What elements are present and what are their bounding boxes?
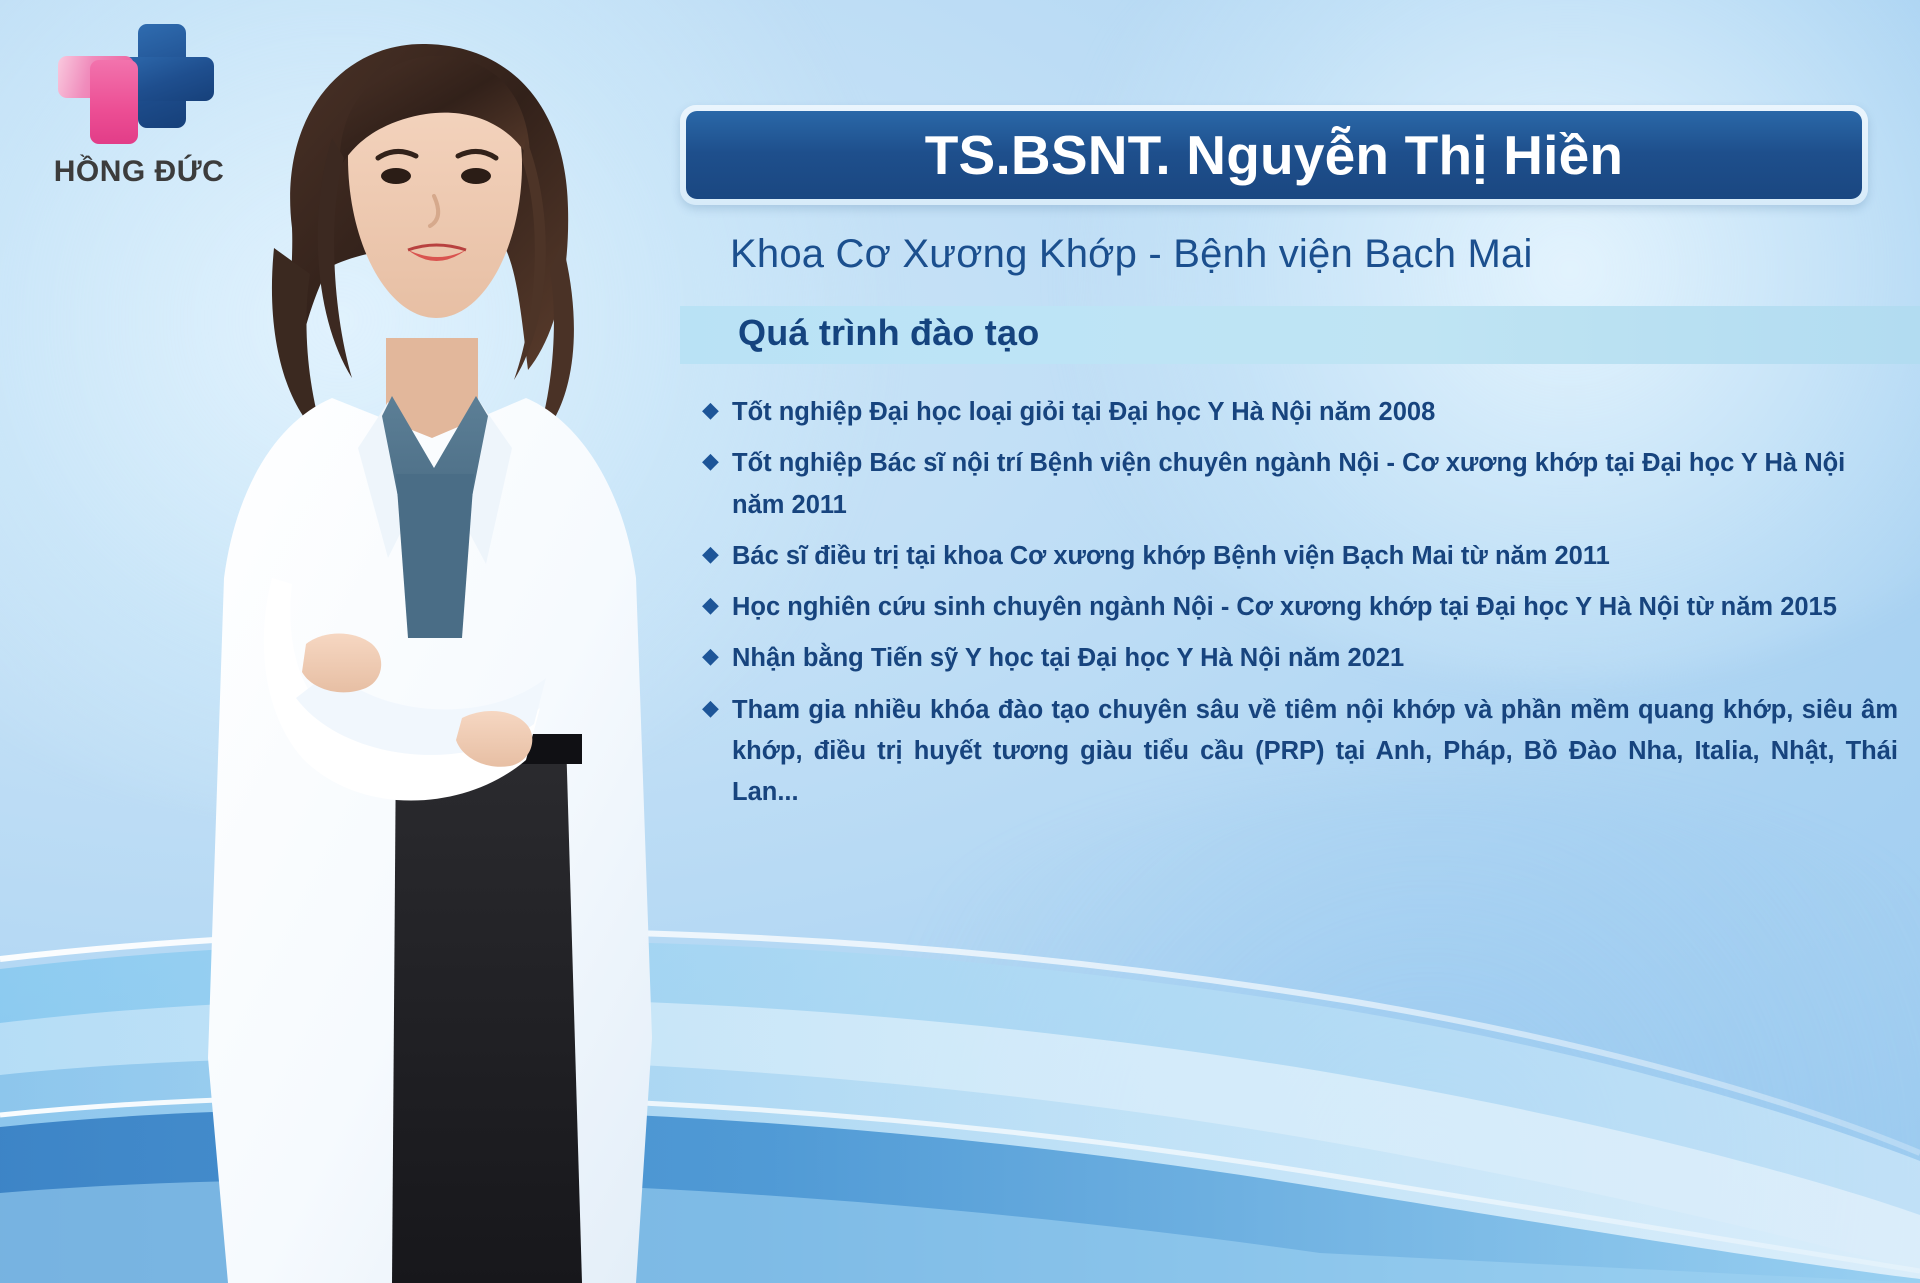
list-item: ◆ Bác sĩ điều trị tại khoa Cơ xương khớp… (698, 536, 1898, 577)
list-item-text: Nhận bằng Tiến sỹ Y học tại Đại học Y Hà… (732, 638, 1898, 679)
training-list: ◆ Tốt nghiệp Đại học loại giỏi tại Đại h… (698, 392, 1898, 865)
diamond-bullet-icon: ◆ (698, 392, 732, 428)
list-item-text: Tốt nghiệp Đại học loại giỏi tại Đại học… (732, 392, 1898, 433)
diamond-bullet-icon: ◆ (698, 443, 732, 479)
list-item: ◆ Nhận bằng Tiến sỹ Y học tại Đại học Y … (698, 638, 1898, 679)
doctor-name: TS.BSNT. Nguyễn Thị Hiền (925, 128, 1623, 183)
doctor-department: Khoa Cơ Xương Khớp - Bệnh viện Bạch Mai (730, 232, 1870, 277)
section-title: Quá trình đào tạo (738, 312, 1039, 354)
doctor-profile-poster: HỒNG ĐỨC (0, 0, 1920, 1283)
doctor-portrait (96, 18, 736, 1283)
list-item-text: Học nghiên cứu sinh chuyên ngành Nội - C… (732, 587, 1898, 628)
diamond-bullet-icon: ◆ (698, 587, 732, 623)
list-item-text: Tốt nghiệp Bác sĩ nội trí Bệnh viện chuy… (732, 443, 1898, 526)
diamond-bullet-icon: ◆ (698, 638, 732, 674)
doctor-name-banner-inner: TS.BSNT. Nguyễn Thị Hiền (686, 111, 1862, 199)
list-item: ◆ Tham gia nhiều khóa đào tạo chuyên sâu… (698, 690, 1898, 855)
list-item: ◆ Học nghiên cứu sinh chuyên ngành Nội -… (698, 587, 1898, 628)
list-item: ◆ Tốt nghiệp Đại học loại giỏi tại Đại h… (698, 392, 1898, 433)
list-item-text: Bác sĩ điều trị tại khoa Cơ xương khớp B… (732, 536, 1898, 577)
diamond-bullet-icon: ◆ (698, 536, 732, 572)
doctor-portrait-svg (96, 18, 736, 1283)
list-item-text: Tham gia nhiều khóa đào tạo chuyên sâu v… (732, 690, 1898, 855)
doctor-name-banner: TS.BSNT. Nguyễn Thị Hiền (680, 105, 1868, 205)
profile-content: TS.BSNT. Nguyễn Thị Hiền Khoa Cơ Xương K… (672, 0, 1920, 1283)
diamond-bullet-icon: ◆ (698, 690, 732, 726)
list-item: ◆ Tốt nghiệp Bác sĩ nội trí Bệnh viện ch… (698, 443, 1898, 526)
